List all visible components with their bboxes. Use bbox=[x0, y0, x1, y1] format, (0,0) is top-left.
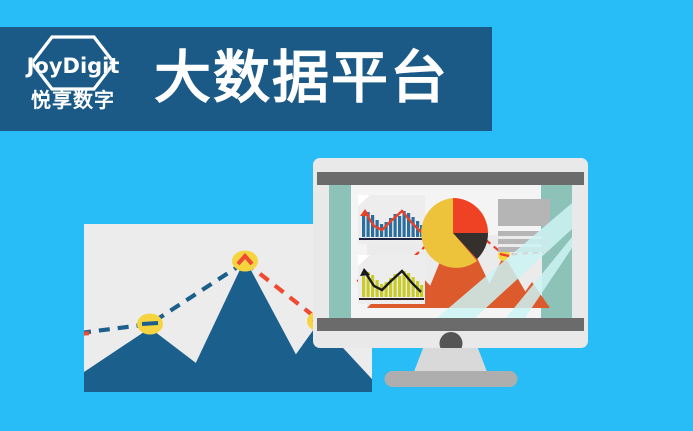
logo-english-text: JoyDigit bbox=[27, 56, 120, 77]
monitor-illustration bbox=[313, 158, 588, 348]
monitor-base bbox=[384, 371, 517, 387]
page-title: 大数据平台 bbox=[154, 50, 449, 107]
monitor-top-bezel-bar bbox=[317, 172, 584, 185]
card-yellow-axis bbox=[359, 298, 424, 300]
brand-logo[interactable]: JoyDigit 悦享数字 bbox=[14, 33, 132, 125]
screen-band-left bbox=[329, 185, 351, 318]
logo-chinese-text: 悦享数字 bbox=[31, 90, 115, 110]
bar-chart-card-blue[interactable] bbox=[358, 195, 425, 244]
header-banner: JoyDigit 悦享数字 大数据平台 bbox=[0, 27, 492, 131]
page-canvas: JoyDigit 悦享数字 大数据平台 bbox=[0, 0, 693, 431]
monitor-screen[interactable] bbox=[329, 185, 572, 318]
monitor-bottom-bezel-bar bbox=[317, 318, 584, 331]
monitor-stand bbox=[414, 348, 488, 373]
card-blue-axis bbox=[359, 238, 424, 240]
node-dash-left bbox=[142, 323, 158, 324]
placeholder-image-block bbox=[498, 199, 550, 226]
bar-chart-card-yellow[interactable] bbox=[358, 255, 425, 304]
monitor-screen-content bbox=[329, 185, 572, 318]
